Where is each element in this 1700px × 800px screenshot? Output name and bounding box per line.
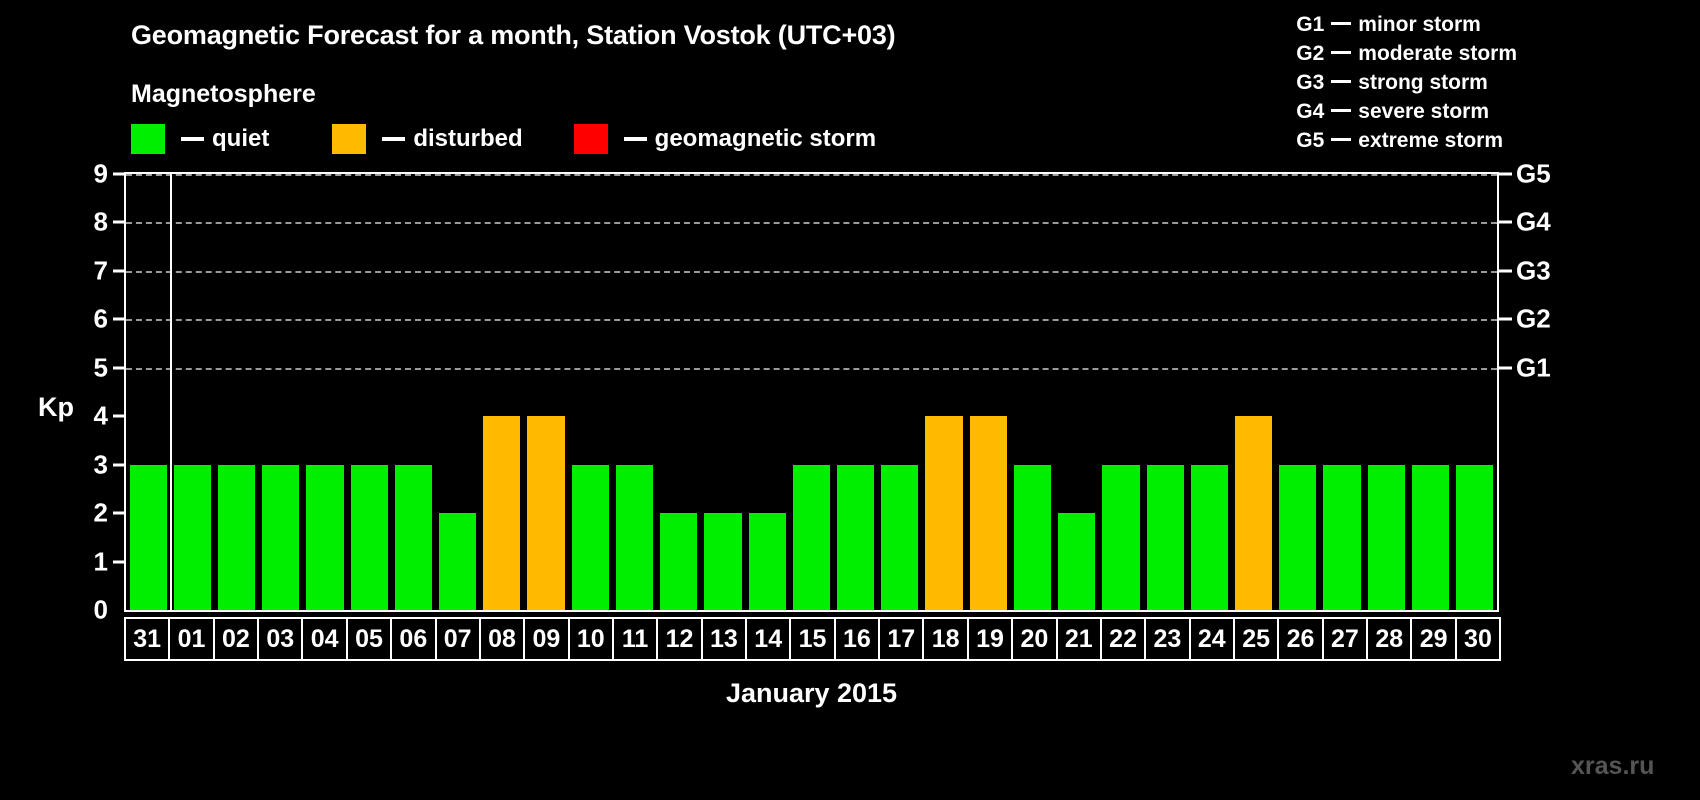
storm-scale-row-G2: G2moderate storm xyxy=(1296,39,1517,68)
date-cell-03[interactable]: 03 xyxy=(257,617,303,661)
bar-day-03[interactable] xyxy=(262,465,299,610)
bar-cell[interactable] xyxy=(922,174,966,610)
storm-scale-desc: minor storm xyxy=(1358,13,1481,36)
bar-day-23[interactable] xyxy=(1147,465,1184,610)
bar-day-30[interactable] xyxy=(1456,465,1493,610)
date-cell-01[interactable]: 01 xyxy=(168,617,214,661)
plot-area xyxy=(124,172,1499,612)
bar-day-15[interactable] xyxy=(793,465,830,610)
bar-cell[interactable] xyxy=(1055,174,1099,610)
storm-scale-desc: moderate storm xyxy=(1358,42,1517,65)
y-tick-label-1: 1 xyxy=(68,546,108,577)
bar-day-21[interactable] xyxy=(1058,513,1095,610)
bar-cell[interactable] xyxy=(436,174,480,610)
date-cell-25[interactable]: 25 xyxy=(1233,617,1279,661)
bar-cell[interactable] xyxy=(878,174,922,610)
legend-item-geomagnetic-storm: geomagnetic storm xyxy=(574,124,876,154)
bar-cell[interactable] xyxy=(1453,174,1497,610)
bar-day-07[interactable] xyxy=(439,513,476,610)
y-tick-mark-1 xyxy=(113,560,124,563)
y-tick-label-4: 4 xyxy=(68,401,108,432)
bar-cell[interactable] xyxy=(657,174,701,610)
bar-day-04[interactable] xyxy=(306,465,343,610)
legend-dash-icon xyxy=(624,137,647,141)
y-tick-label-6: 6 xyxy=(68,304,108,335)
date-cell-21[interactable]: 21 xyxy=(1056,617,1102,661)
bar-day-29[interactable] xyxy=(1412,465,1449,610)
bar-day-05[interactable] xyxy=(351,465,388,610)
y-tick-label-7: 7 xyxy=(68,255,108,286)
bar-cell[interactable] xyxy=(1143,174,1187,610)
bar-cell[interactable] xyxy=(391,174,435,610)
y-tick-mark-6 xyxy=(113,318,124,321)
bar-cell[interactable] xyxy=(1187,174,1231,610)
legend-dash-icon xyxy=(181,137,204,141)
bar-cell[interactable] xyxy=(480,174,524,610)
g-axis-label-G1: G1 xyxy=(1516,352,1551,383)
bar-day-06[interactable] xyxy=(395,465,432,610)
bar-cell[interactable] xyxy=(1364,174,1408,610)
bar-cell[interactable] xyxy=(568,174,612,610)
storm-scale-row-G5: G5extreme storm xyxy=(1296,126,1517,155)
bar-day-28[interactable] xyxy=(1368,465,1405,610)
bar-day-12[interactable] xyxy=(660,513,697,610)
bar-day-09[interactable] xyxy=(527,416,564,610)
bar-cell[interactable] xyxy=(966,174,1010,610)
bar-day-13[interactable] xyxy=(704,513,741,610)
date-cell-09[interactable]: 09 xyxy=(523,617,569,661)
bar-day-14[interactable] xyxy=(749,513,786,610)
legend-dash-icon xyxy=(382,137,405,141)
storm-scale-code: G4 xyxy=(1296,97,1324,126)
date-cell-11[interactable]: 11 xyxy=(612,617,658,661)
date-cell-13[interactable]: 13 xyxy=(701,617,747,661)
bar-cell[interactable] xyxy=(170,174,214,610)
date-cell-18[interactable]: 18 xyxy=(922,617,968,661)
storm-scale-row-G1: G1minor storm xyxy=(1296,10,1517,39)
color-legend: quietdisturbedgeomagnetic storm xyxy=(131,124,876,154)
storm-scale-row-G3: G3strong storm xyxy=(1296,68,1517,97)
x-axis-title: January 2015 xyxy=(124,678,1499,709)
date-cell-31[interactable]: 31 xyxy=(124,617,170,661)
bar-day-18[interactable] xyxy=(925,416,962,610)
legend-label: geomagnetic storm xyxy=(655,125,876,153)
date-cell-07[interactable]: 07 xyxy=(435,617,481,661)
storm-scale-code: G2 xyxy=(1296,39,1324,68)
bar-day-25[interactable] xyxy=(1235,416,1272,610)
bar-cell[interactable] xyxy=(1320,174,1364,610)
date-cell-26[interactable]: 26 xyxy=(1277,617,1323,661)
y-tick-label-2: 2 xyxy=(68,498,108,529)
storm-scale-desc: extreme storm xyxy=(1358,129,1503,152)
g-axis-tick-G2 xyxy=(1499,318,1512,321)
date-cell-23[interactable]: 23 xyxy=(1144,617,1190,661)
page-title: Geomagnetic Forecast for a month, Statio… xyxy=(131,20,895,51)
g-axis-label-G3: G3 xyxy=(1516,255,1551,286)
legend-label: quiet xyxy=(212,125,269,153)
bar-day-01[interactable] xyxy=(174,465,211,610)
legend-swatch-icon xyxy=(332,124,366,154)
bar-day-11[interactable] xyxy=(616,465,653,610)
date-cell-24[interactable]: 24 xyxy=(1189,617,1235,661)
bar-cell[interactable] xyxy=(1276,174,1320,610)
bar-day-16[interactable] xyxy=(837,465,874,610)
date-cell-14[interactable]: 14 xyxy=(745,617,791,661)
date-axis: 3101020304050607080910111213141516171819… xyxy=(124,617,1499,661)
date-cell-02[interactable]: 02 xyxy=(213,617,259,661)
storm-scale-code: G3 xyxy=(1296,68,1324,97)
bar-day-26[interactable] xyxy=(1279,465,1316,610)
bar-cell[interactable] xyxy=(1010,174,1054,610)
geomagnetic-forecast-chart: Geomagnetic Forecast for a month, Statio… xyxy=(0,0,1700,800)
bar-cell[interactable] xyxy=(259,174,303,610)
bar-day-08[interactable] xyxy=(483,416,520,610)
y-tick-mark-3 xyxy=(113,463,124,466)
storm-scale-dash-icon xyxy=(1331,22,1351,25)
bar-cell[interactable] xyxy=(612,174,656,610)
y-tick-mark-4 xyxy=(113,415,124,418)
bar-day-20[interactable] xyxy=(1014,465,1051,610)
y-tick-mark-2 xyxy=(113,512,124,515)
storm-scale-legend: G1minor stormG2moderate stormG3strong st… xyxy=(1296,10,1517,155)
date-cell-30[interactable]: 30 xyxy=(1455,617,1501,661)
g-axis-tick-G5 xyxy=(1499,173,1512,176)
date-cell-06[interactable]: 06 xyxy=(390,617,436,661)
bar-day-27[interactable] xyxy=(1323,465,1360,610)
date-cell-12[interactable]: 12 xyxy=(656,617,702,661)
date-cell-17[interactable]: 17 xyxy=(878,617,924,661)
y-tick-mark-7 xyxy=(113,269,124,272)
bar-day-22[interactable] xyxy=(1102,465,1139,610)
date-cell-28[interactable]: 28 xyxy=(1366,617,1412,661)
date-cell-10[interactable]: 10 xyxy=(568,617,614,661)
bar-day-10[interactable] xyxy=(572,465,609,610)
date-cell-08[interactable]: 08 xyxy=(479,617,525,661)
g-axis-tick-G3 xyxy=(1499,269,1512,272)
bar-cell[interactable] xyxy=(214,174,258,610)
bar-day-24[interactable] xyxy=(1191,465,1228,610)
y-tick-label-0: 0 xyxy=(68,595,108,626)
bar-day-19[interactable] xyxy=(970,416,1007,610)
bar-cell[interactable] xyxy=(789,174,833,610)
watermark: xras.ru xyxy=(1571,752,1654,781)
bar-cell[interactable] xyxy=(303,174,347,610)
month-divider xyxy=(170,174,172,610)
bar-day-17[interactable] xyxy=(881,465,918,610)
y-tick-mark-5 xyxy=(113,366,124,369)
y-tick-label-9: 9 xyxy=(68,159,108,190)
g-axis-tick-G1 xyxy=(1499,366,1512,369)
storm-scale-dash-icon xyxy=(1331,80,1351,83)
legend-item-quiet: quiet xyxy=(131,124,269,154)
legend-swatch-icon xyxy=(574,124,608,154)
storm-scale-desc: severe storm xyxy=(1358,100,1489,123)
bar-cell[interactable] xyxy=(1099,174,1143,610)
date-cell-29[interactable]: 29 xyxy=(1410,617,1456,661)
y-tick-label-5: 5 xyxy=(68,352,108,383)
g-axis-label-G4: G4 xyxy=(1516,207,1551,238)
date-cell-20[interactable]: 20 xyxy=(1011,617,1057,661)
bar-cell[interactable] xyxy=(834,174,878,610)
bar-cell[interactable] xyxy=(1408,174,1452,610)
storm-scale-code: G1 xyxy=(1296,10,1324,39)
bar-day-31[interactable] xyxy=(130,465,167,610)
bar-cell[interactable] xyxy=(126,174,170,610)
bar-cell[interactable] xyxy=(701,174,745,610)
storm-scale-row-G4: G4severe storm xyxy=(1296,97,1517,126)
legend-swatch-icon xyxy=(131,124,165,154)
date-cell-15[interactable]: 15 xyxy=(789,617,835,661)
storm-scale-dash-icon xyxy=(1331,109,1351,112)
legend-label: disturbed xyxy=(413,125,522,153)
y-tick-mark-9 xyxy=(113,173,124,176)
g-axis-label-G2: G2 xyxy=(1516,304,1551,335)
bar-series xyxy=(126,174,1497,610)
y-tick-label-8: 8 xyxy=(68,207,108,238)
bar-cell[interactable] xyxy=(1231,174,1275,610)
g-axis-tick-G4 xyxy=(1499,221,1512,224)
magnetosphere-label: Magnetosphere xyxy=(131,80,316,109)
y-tick-label-3: 3 xyxy=(68,449,108,480)
date-cell-05[interactable]: 05 xyxy=(346,617,392,661)
storm-scale-dash-icon xyxy=(1331,51,1351,54)
date-cell-04[interactable]: 04 xyxy=(301,617,347,661)
storm-scale-dash-icon xyxy=(1331,138,1351,141)
date-cell-27[interactable]: 27 xyxy=(1322,617,1368,661)
storm-scale-code: G5 xyxy=(1296,126,1324,155)
date-cell-19[interactable]: 19 xyxy=(967,617,1013,661)
g-axis-label-G5: G5 xyxy=(1516,159,1551,190)
storm-scale-desc: strong storm xyxy=(1358,71,1488,94)
bar-cell[interactable] xyxy=(745,174,789,610)
bar-cell[interactable] xyxy=(524,174,568,610)
bar-day-02[interactable] xyxy=(218,465,255,610)
bar-cell[interactable] xyxy=(347,174,391,610)
legend-item-disturbed: disturbed xyxy=(332,124,522,154)
date-cell-16[interactable]: 16 xyxy=(834,617,880,661)
y-tick-mark-8 xyxy=(113,221,124,224)
date-cell-22[interactable]: 22 xyxy=(1100,617,1146,661)
